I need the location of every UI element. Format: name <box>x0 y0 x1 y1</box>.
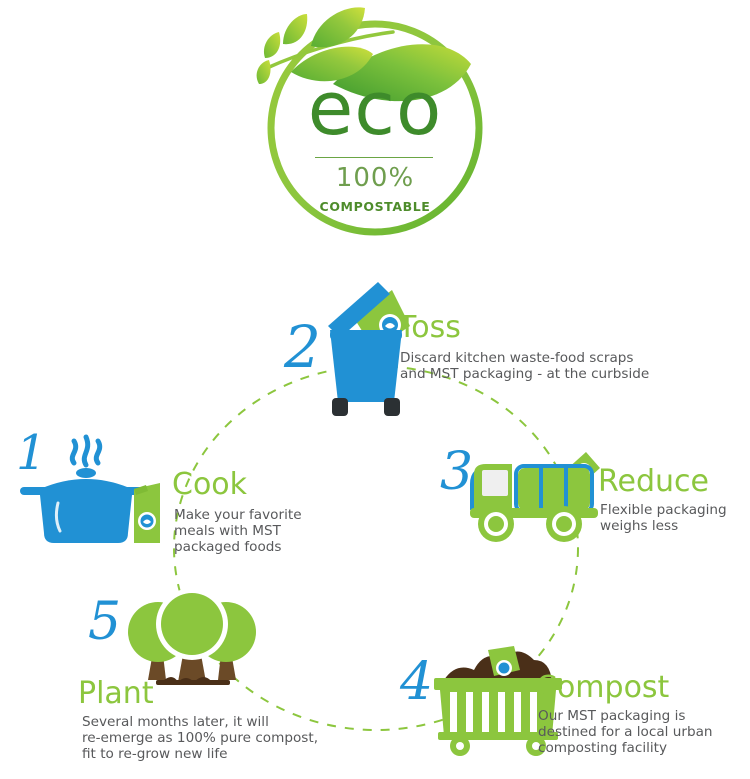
step-title-cook: Cook <box>172 469 247 501</box>
step-desc-reduce: Flexible packaging weighs less <box>600 502 727 534</box>
step-desc-cook: Make your favorite meals with MST packag… <box>174 507 302 555</box>
step-number-5: 5 <box>88 596 121 648</box>
step-desc-plant: Several months later, it will re-emerge … <box>82 714 318 762</box>
pot-handles <box>20 487 152 495</box>
steam-3 <box>96 441 99 463</box>
cooking-pot-icon <box>18 429 168 549</box>
step-compost: 4 <box>400 640 750 770</box>
tree-crown-center <box>161 593 223 655</box>
step-cook: 1 <box>0 425 340 565</box>
steam-2 <box>84 437 87 465</box>
step-desc-compost: Our MST packaging is destined for a loca… <box>538 708 713 756</box>
truck-window <box>482 470 508 496</box>
pot-knob <box>76 468 96 478</box>
step-title-toss: Toss <box>398 312 461 344</box>
trees-icon <box>122 590 262 690</box>
step-desc-toss: Discard kitchen waste-food scraps and MS… <box>400 350 649 382</box>
step-plant: 5 Plant Several months later, it will re <box>60 590 360 770</box>
bin-wheel-left <box>332 398 348 416</box>
step-toss: 2 Toss Discard kitchen waste-food scraps… <box>280 280 680 430</box>
step-title-compost: Compost <box>536 672 669 704</box>
bin-body <box>330 330 402 402</box>
step-title-reduce: Reduce <box>598 466 709 498</box>
garbage-truck-icon <box>460 440 610 546</box>
steam-1 <box>72 441 75 463</box>
pot-body <box>40 495 132 543</box>
infographic-canvas: eco 100% COMPOSTABLE 2 <box>0 0 750 779</box>
bin-wheel-right <box>384 398 400 416</box>
truck-hopper <box>518 468 590 510</box>
step-reduce: 3 <box>440 440 750 560</box>
step-title-plant: Plant <box>78 678 154 710</box>
